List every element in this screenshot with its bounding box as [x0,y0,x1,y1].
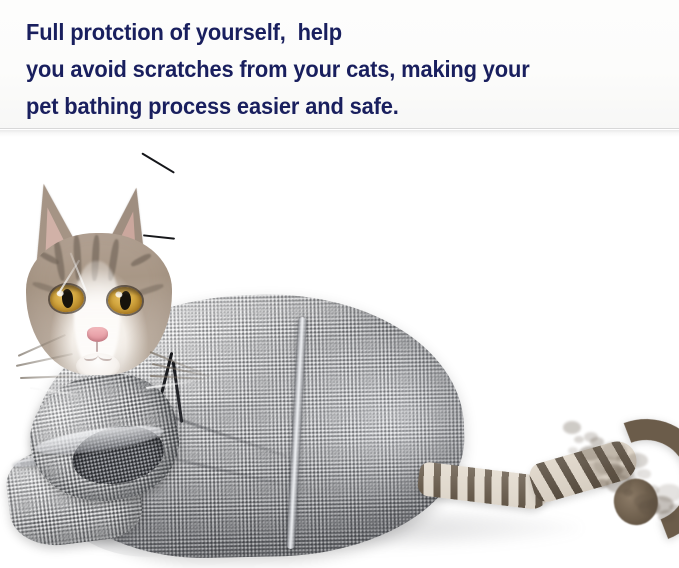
tail-fur-wisp [584,462,606,477]
tail-fur-wisp [656,484,679,502]
tail-fur-wisp [574,436,584,443]
tabby-stripe [130,252,152,268]
cat-striped-tail [418,425,664,561]
headline-banner: Full protction of yourself, help you avo… [0,0,679,129]
product-feature-image: Full protction of yourself, help you avo… [0,0,679,568]
product-photo [0,137,679,568]
tail-fur-wisp [568,447,578,454]
banner-drop-shadow [0,130,679,137]
eyelid-left [49,284,83,294]
cat-face [26,233,172,375]
drawstring-whisker-upper [141,152,175,174]
cat-mouth-right [98,351,112,361]
cat-head [18,181,178,377]
headline-line-1: Full protction of yourself, help [26,19,342,46]
tail-fur-wisp [563,421,581,434]
headline-line-3: pet bathing process easier and safe. [26,93,399,120]
eyelid-right [108,286,142,296]
headline-line-2: you avoid scratches from your cats, maki… [26,56,530,83]
tail-fur-wisp [626,453,648,468]
cat-nose [87,327,108,342]
tail-fur-wisp [590,437,604,447]
